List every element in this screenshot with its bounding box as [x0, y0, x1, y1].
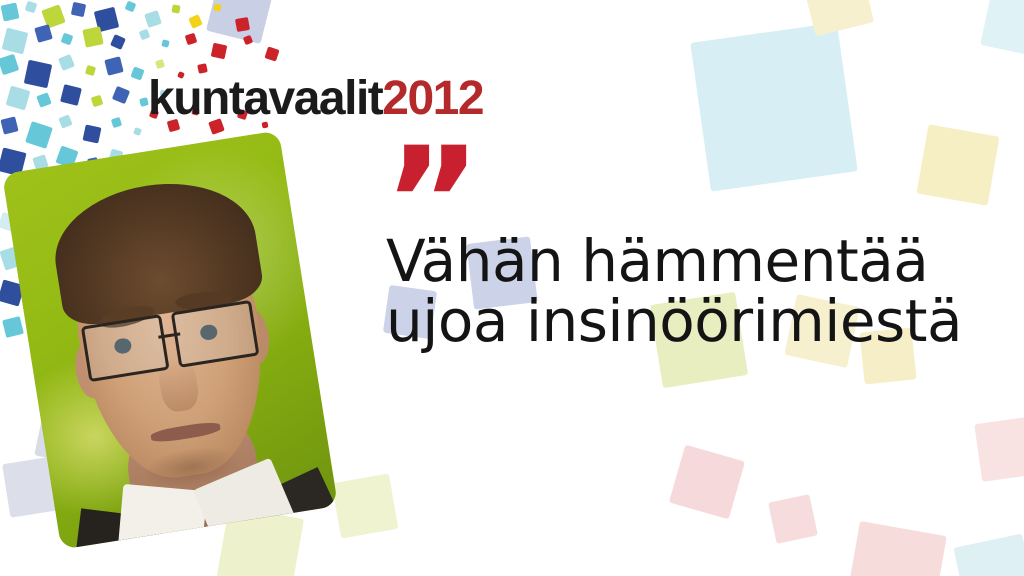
mosaic-square [36, 92, 51, 107]
mosaic-square [60, 84, 82, 106]
pale-pink-left-square [669, 445, 745, 520]
mosaic-square [104, 56, 123, 75]
mosaic-square [161, 39, 169, 47]
mosaic-square [155, 59, 165, 69]
mosaic-square [71, 2, 86, 17]
mosaic-square [58, 54, 75, 71]
mosaic-square [111, 117, 122, 128]
mosaic-square [0, 54, 19, 75]
mosaic-square [264, 46, 279, 61]
pale-cyan-large-square [690, 22, 857, 191]
mosaic-square [0, 116, 18, 134]
mosaic-square [125, 1, 137, 13]
portrait-photo [2, 130, 338, 549]
poster-canvas: kuntavaalit2012 ” Vähän hämmentää ujoa i… [0, 0, 1024, 576]
mosaic-square [211, 43, 228, 60]
mosaic-square [58, 114, 72, 128]
mosaic-square [1, 3, 20, 22]
mosaic-square [130, 66, 144, 80]
mosaic-square [144, 10, 162, 28]
pale-green-bottom2-square [332, 473, 399, 538]
mosaic-square [25, 1, 38, 14]
mosaic-square [85, 65, 96, 76]
mosaic-square [139, 29, 151, 41]
mosaic-square [6, 86, 31, 111]
portrait-image [2, 130, 338, 549]
mosaic-square [25, 121, 53, 149]
pale-yellow-right-square [916, 124, 999, 205]
quote-line-2: ujoa insinöörimiestä [386, 292, 986, 352]
mosaic-square [133, 127, 142, 136]
mosaic-square [82, 26, 103, 47]
pale-pink-big-square [845, 521, 947, 576]
mosaic-square [110, 34, 126, 50]
mosaic-square [24, 60, 52, 88]
mosaic-square [243, 35, 253, 45]
mosaic-square [91, 95, 104, 108]
mosaic-square [2, 316, 24, 338]
pale-pink-small-square [768, 494, 818, 544]
quote-line-1: Vähän hämmentää [386, 232, 986, 292]
quote-text: Vähän hämmentää ujoa insinöörimiestä [386, 232, 986, 351]
mosaic-square [2, 28, 29, 55]
logo-word: kuntavaalit [148, 72, 382, 125]
mosaic-square [185, 33, 198, 46]
pale-cyan-bottom-square [953, 533, 1024, 576]
collar-left-shape [117, 484, 207, 549]
mosaic-square [188, 14, 203, 29]
mosaic-square [112, 86, 130, 104]
mosaic-square [61, 33, 74, 46]
mosaic-square [213, 3, 222, 12]
pale-cyan-topright-square [980, 0, 1024, 58]
mosaic-square [83, 125, 102, 144]
mosaic-square [235, 17, 250, 32]
mosaic-square [171, 4, 180, 13]
pale-pink-far-square [974, 416, 1024, 482]
